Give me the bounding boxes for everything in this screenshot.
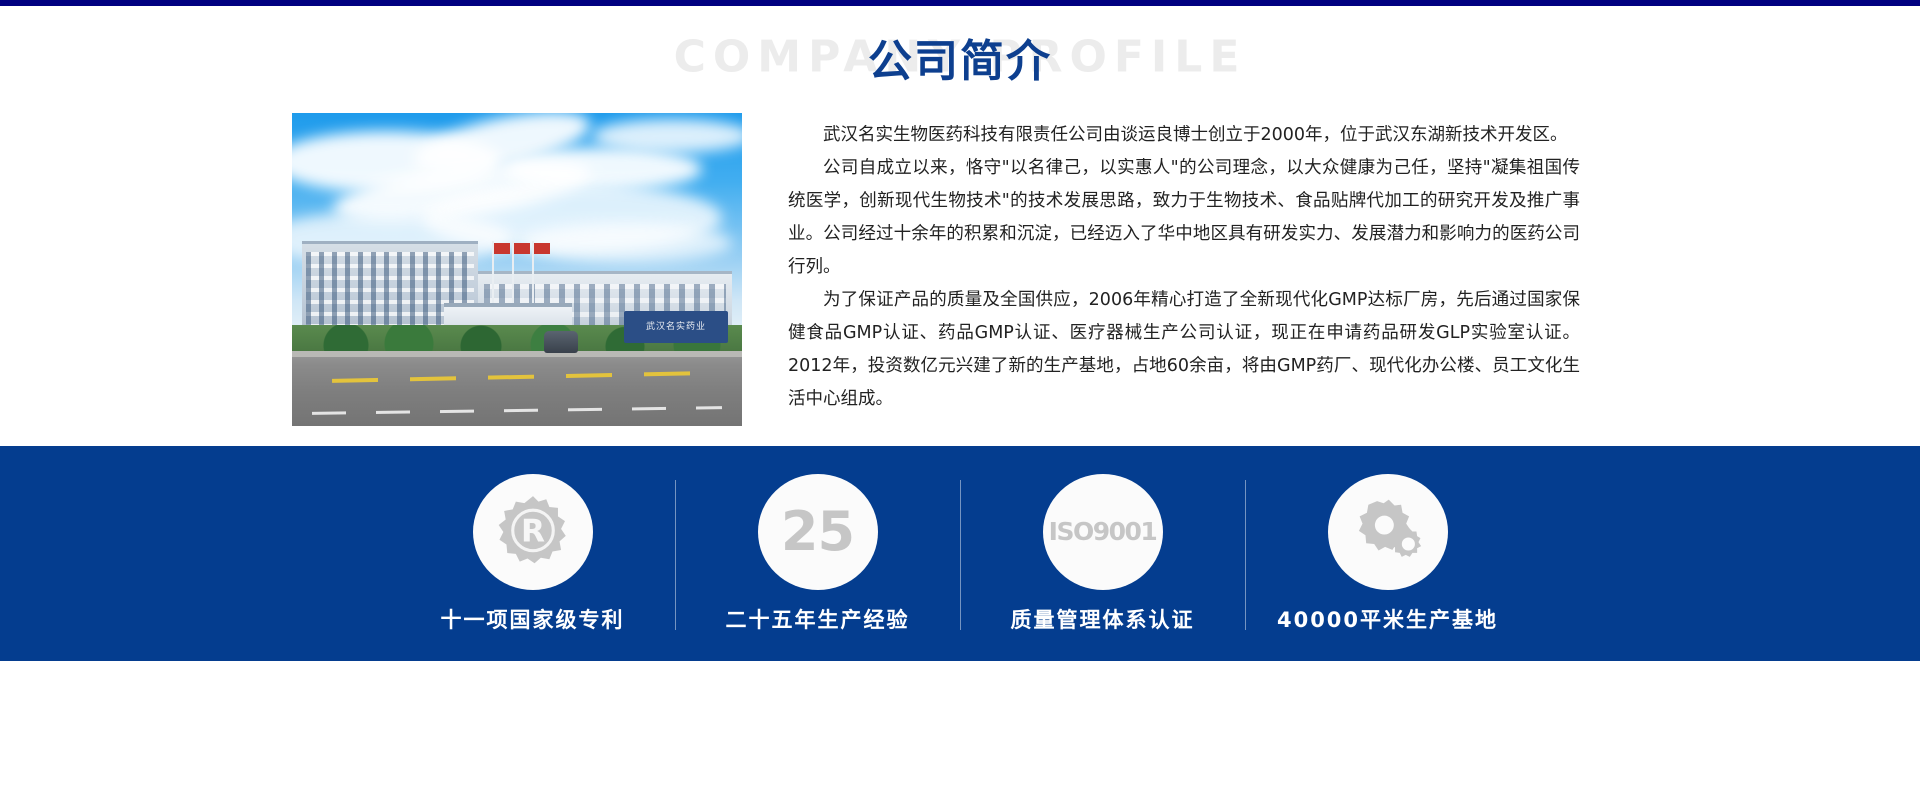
road bbox=[292, 351, 742, 426]
feature-production-base[interactable]: 40000平米生产基地 bbox=[1245, 474, 1530, 634]
about-paragraph-3: 为了保证产品的质量及全国供应，2006年精心打造了全新现代化GMP达标厂房，先后… bbox=[788, 284, 1580, 416]
company-signboard: 武汉名实药业 bbox=[624, 311, 728, 343]
feature-label: 40000平米生产基地 bbox=[1277, 604, 1498, 634]
about-paragraph-2: 公司自成立以来，恪守"以名律己，以实惠人"的公司理念，以大众健康为己任，坚持"凝… bbox=[788, 152, 1580, 284]
number-25-text: 25 bbox=[781, 505, 854, 559]
company-profile-page: COMPANY PROFILE 公司简介 bbox=[0, 0, 1920, 807]
number-25-icon: 25 bbox=[758, 474, 878, 590]
gears-icon bbox=[1328, 474, 1448, 590]
section-heading: COMPANY PROFILE 公司简介 bbox=[0, 22, 1920, 92]
about-content: 武汉名实药业 武汉名实生物医药科技有限责任公司由谈运良博士创立于2000年，位于… bbox=[292, 113, 1580, 433]
cloud-shape bbox=[592, 119, 742, 153]
company-building-photo: 武汉名实药业 bbox=[292, 113, 742, 426]
about-text-column: 武汉名实生物医药科技有限责任公司由谈运良博士创立于2000年，位于武汉东湖新技术… bbox=[742, 113, 1580, 416]
parked-car bbox=[544, 331, 578, 353]
page-title: 公司简介 bbox=[0, 25, 1920, 89]
about-paragraph-1: 武汉名实生物医药科技有限责任公司由谈运良博士创立于2000年，位于武汉东湖新技术… bbox=[788, 119, 1580, 152]
iso9001-text: ISO9001 bbox=[1049, 519, 1157, 544]
feature-label: 二十五年生产经验 bbox=[726, 604, 910, 634]
top-navy-strip bbox=[0, 0, 1920, 6]
feature-label: 十一项国家级专利 bbox=[441, 604, 625, 634]
svg-text:R: R bbox=[520, 513, 544, 549]
feature-experience[interactable]: 25 二十五年生产经验 bbox=[675, 474, 960, 634]
iso9001-icon: ISO9001 bbox=[1043, 474, 1163, 590]
feature-patents[interactable]: R 十一项国家级专利 bbox=[390, 474, 675, 634]
feature-quality-cert[interactable]: ISO9001 质量管理体系认证 bbox=[960, 474, 1245, 634]
features-band: R 十一项国家级专利 25 二十五年生产经验 ISO9001 质量管理体系认证 bbox=[0, 446, 1920, 661]
company-signboard-text: 武汉名实药业 bbox=[624, 311, 728, 343]
registered-trademark-gear-icon: R bbox=[473, 474, 593, 590]
cloud-shape bbox=[522, 223, 732, 263]
feature-label: 质量管理体系认证 bbox=[1011, 604, 1195, 634]
